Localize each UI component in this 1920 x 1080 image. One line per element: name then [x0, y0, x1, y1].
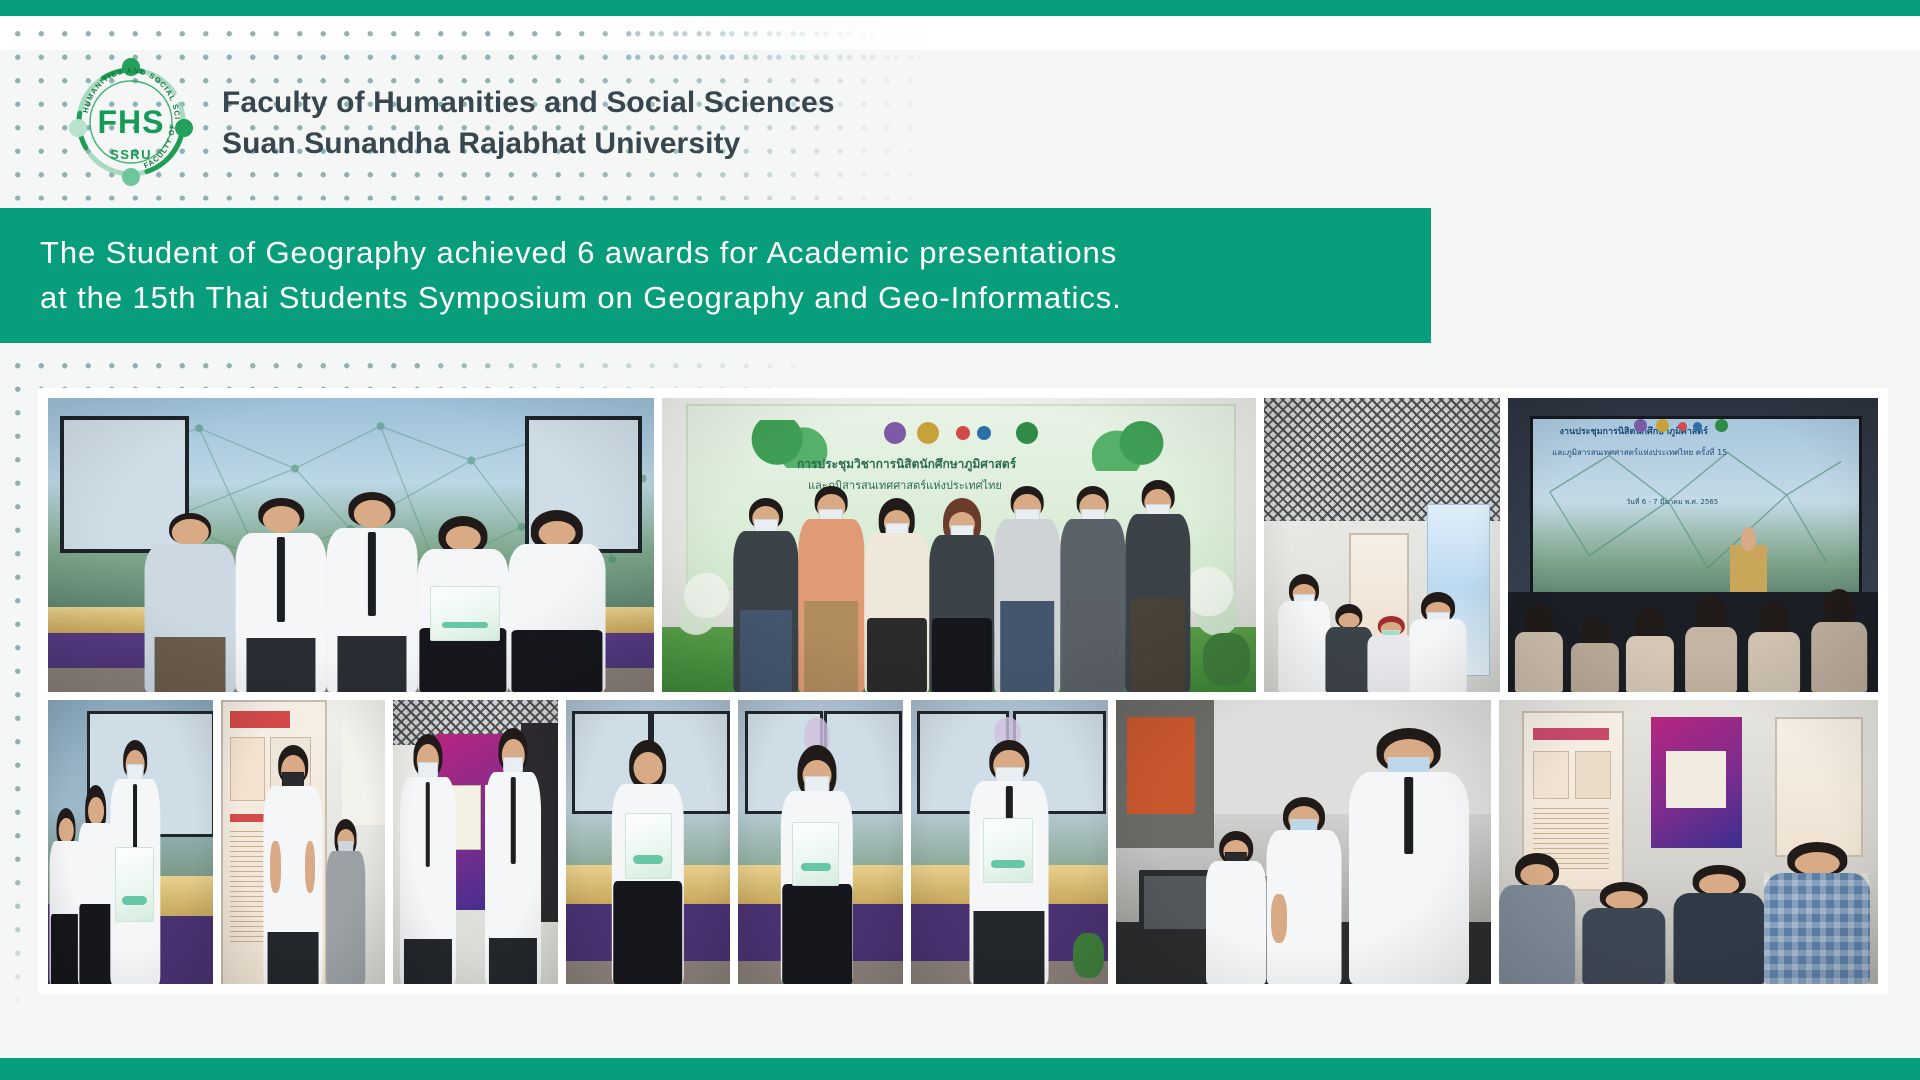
- fhs-seal-icon: HUMANITIES AND SOCIAL SCIENCES FACULTY O…: [66, 57, 196, 187]
- svg-text:SSRU: SSRU: [110, 147, 152, 162]
- collage-row-bottom: [48, 700, 1878, 984]
- collage-row-top: การประชุมวิชาการนิสิตนักศึกษาภูมิศาสตร์ …: [48, 398, 1878, 692]
- photo-female-student-certificate-1[interactable]: [566, 700, 731, 984]
- university-title: Suan Sunandha Rajabhat University: [222, 124, 835, 163]
- photo-conference-hall[interactable]: งานประชุมการนิสิตนักศึกษาภูมิศาสตร์ และภ…: [1508, 398, 1878, 692]
- upper-white-band: [0, 16, 1920, 50]
- photo-two-students-pink-poster[interactable]: [393, 700, 558, 984]
- poster-canvas: HUMANITIES AND SOCIAL SCIENCES FACULTY O…: [0, 0, 1920, 1080]
- headline-banner: The Student of Geography achieved 6 awar…: [0, 208, 1431, 343]
- photo-group-five-students-stage[interactable]: [48, 398, 654, 692]
- photo-male-student-certificate[interactable]: [911, 700, 1108, 984]
- bottom-accent-bar: [0, 1058, 1920, 1080]
- photo-poster-session-visitors[interactable]: [1499, 700, 1878, 984]
- svg-text:FHS: FHS: [98, 104, 165, 140]
- photo-student-with-certificate-hall[interactable]: [48, 700, 213, 984]
- photo-students-at-laptops[interactable]: [1116, 700, 1491, 984]
- photo-collage: การประชุมวิชาการนิสิตนักศึกษาภูมิศาสตร์ …: [38, 388, 1888, 994]
- faculty-title: Faculty of Humanities and Social Science…: [222, 83, 835, 122]
- header-titles: Faculty of Humanities and Social Science…: [222, 83, 835, 163]
- top-accent-bar: [0, 0, 1920, 16]
- poster-header: HUMANITIES AND SOCIAL SCIENCES FACULTY O…: [0, 52, 1100, 192]
- photo-faculty-group-backdrop[interactable]: การประชุมวิชาการนิสิตนักศึกษาภูมิศาสตร์ …: [662, 398, 1256, 692]
- photo-female-student-certificate-2[interactable]: [738, 700, 903, 984]
- photo-corridor-exhibition[interactable]: [1264, 398, 1500, 692]
- headline-line-2: at the 15th Thai Students Symposium on G…: [40, 275, 1431, 320]
- headline-line-1: The Student of Geography achieved 6 awar…: [40, 230, 1431, 275]
- photo-student-thumbs-up-poster[interactable]: [221, 700, 386, 984]
